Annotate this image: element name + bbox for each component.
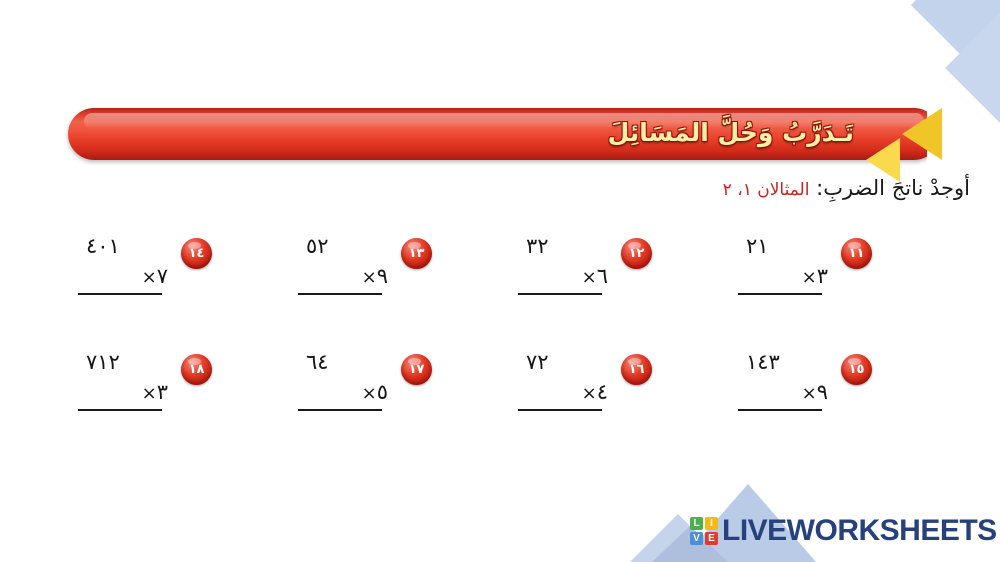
problems-grid: ١١ ٢١ ×٣ ١٢ ٣٢ ×٦ xyxy=(0,224,1000,456)
multiply-operator-icon: × xyxy=(142,267,157,288)
logo-square-e: E xyxy=(705,532,718,545)
multiply-operator-icon: × xyxy=(802,267,817,288)
problem-number-badge: ١٥ xyxy=(841,354,872,385)
multiplier-line: ×٧ xyxy=(78,260,170,292)
problem-number-badge: ١٣ xyxy=(401,238,432,269)
multiplier-line: ×٤ xyxy=(518,376,610,408)
multiplier: ٩ xyxy=(377,264,388,288)
live-squares-icon: L I V E xyxy=(690,517,718,545)
logo-square-l: L xyxy=(690,517,703,530)
banner-title: تَـدَرَّبُ وَحُلَّ المَسَائِلَ xyxy=(608,113,854,153)
multiplicand: ٥٢ xyxy=(298,232,390,260)
answer-rule xyxy=(78,293,162,295)
liveworksheets-logo[interactable]: L I V E LIVEWORKSHEETS xyxy=(630,482,1000,562)
section-banner: تَـدَرَّبُ وَحُلَّ المَسَائِلَ xyxy=(68,108,940,160)
multiplier: ٤ xyxy=(597,380,608,404)
logo-row: L I V E LIVEWORKSHEETS xyxy=(690,516,997,546)
problem-calculation[interactable]: ٤٠١ ×٧ xyxy=(78,232,170,295)
problem-number-badge: ١٨ xyxy=(181,354,212,385)
multiplicand: ٧١٢ xyxy=(78,348,170,376)
multiplier: ٣ xyxy=(157,380,168,404)
multiplier: ٣ xyxy=(817,264,828,288)
multiply-operator-icon: × xyxy=(362,383,377,404)
instruction-line: أوجدْ ناتجَ الضربِ: المثالان ١، ٢ xyxy=(723,176,970,200)
answer-rule xyxy=(738,409,822,411)
multiply-operator-icon: × xyxy=(142,383,157,404)
problem-number-badge: ١٧ xyxy=(401,354,432,385)
multiply-operator-icon: × xyxy=(582,267,597,288)
multiply-operator-icon: × xyxy=(802,383,817,404)
answer-rule xyxy=(738,293,822,295)
answer-rule xyxy=(78,409,162,411)
multiplier-line: ×٣ xyxy=(78,376,170,408)
instruction-reference: المثالان ١، ٢ xyxy=(723,180,810,200)
answer-rule xyxy=(298,293,382,295)
multiplier: ٩ xyxy=(817,380,828,404)
problem-17: ١٧ ٦٤ ×٥ xyxy=(292,340,512,448)
logo-square-v: V xyxy=(690,532,703,545)
multiplier: ٦ xyxy=(597,264,608,288)
answer-rule xyxy=(518,293,602,295)
problem-18: ١٨ ٧١٢ ×٣ xyxy=(72,340,292,448)
logo-square-i: I xyxy=(705,517,718,530)
problem-calculation[interactable]: ٥٢ ×٩ xyxy=(298,232,390,295)
multiplier: ٥ xyxy=(377,380,388,404)
logo-wordmark: LIVEWORKSHEETS xyxy=(722,516,997,546)
problem-16: ١٦ ٧٢ ×٤ xyxy=(512,340,732,448)
problem-12: ١٢ ٣٢ ×٦ xyxy=(512,224,732,332)
problem-calculation[interactable]: ٧١٢ ×٣ xyxy=(78,348,170,411)
problem-number-badge: ١٢ xyxy=(621,238,652,269)
worksheet-page: تَـدَرَّبُ وَحُلَّ المَسَائِلَ أوجدْ نات… xyxy=(0,0,1000,562)
problem-number-badge: ١٤ xyxy=(181,238,212,269)
problem-number-badge: ١٦ xyxy=(621,354,652,385)
multiplier-line: ×٦ xyxy=(518,260,610,292)
multiplier-line: ×٣ xyxy=(738,260,830,292)
problem-number-badge: ١١ xyxy=(841,238,872,269)
multiplier-line: ×٩ xyxy=(738,376,830,408)
decor-diamond-blue-1 xyxy=(911,0,1000,111)
problem-calculation[interactable]: ٦٤ ×٥ xyxy=(298,348,390,411)
multiplicand: ٧٢ xyxy=(518,348,610,376)
problem-15: ١٥ ١٤٣ ×٩ xyxy=(732,340,952,448)
multiplicand: ٦٤ xyxy=(298,348,390,376)
multiplier: ٧ xyxy=(157,264,168,288)
multiplicand: ٣٢ xyxy=(518,232,610,260)
problem-calculation[interactable]: ١٤٣ ×٩ xyxy=(738,348,830,411)
problem-14: ١٤ ٤٠١ ×٧ xyxy=(72,224,292,332)
decor-diamond-blue-2 xyxy=(945,0,1000,153)
multiplier-line: ×٩ xyxy=(298,260,390,292)
banner-bar: تَـدَرَّبُ وَحُلَّ المَسَائِلَ xyxy=(68,108,940,160)
problems-row-2: ١٥ ١٤٣ ×٩ ١٦ ٧٢ ×٤ xyxy=(0,340,1000,456)
multiply-operator-icon: × xyxy=(582,383,597,404)
problem-13: ١٣ ٥٢ ×٩ xyxy=(292,224,512,332)
multiply-operator-icon: × xyxy=(362,267,377,288)
multiplier-line: ×٥ xyxy=(298,376,390,408)
multiplicand: ٤٠١ xyxy=(78,232,170,260)
answer-rule xyxy=(298,409,382,411)
banner-arrow-icon xyxy=(902,108,942,160)
problems-row-1: ١١ ٢١ ×٣ ١٢ ٣٢ ×٦ xyxy=(0,224,1000,340)
problem-calculation[interactable]: ٧٢ ×٤ xyxy=(518,348,610,411)
multiplicand: ١٤٣ xyxy=(738,348,830,376)
problem-calculation[interactable]: ٣٢ ×٦ xyxy=(518,232,610,295)
problem-11: ١١ ٢١ ×٣ xyxy=(732,224,952,332)
instruction-text: أوجدْ ناتجَ الضربِ: xyxy=(816,176,970,200)
answer-rule xyxy=(518,409,602,411)
problem-calculation[interactable]: ٢١ ×٣ xyxy=(738,232,830,295)
multiplicand: ٢١ xyxy=(738,232,830,260)
